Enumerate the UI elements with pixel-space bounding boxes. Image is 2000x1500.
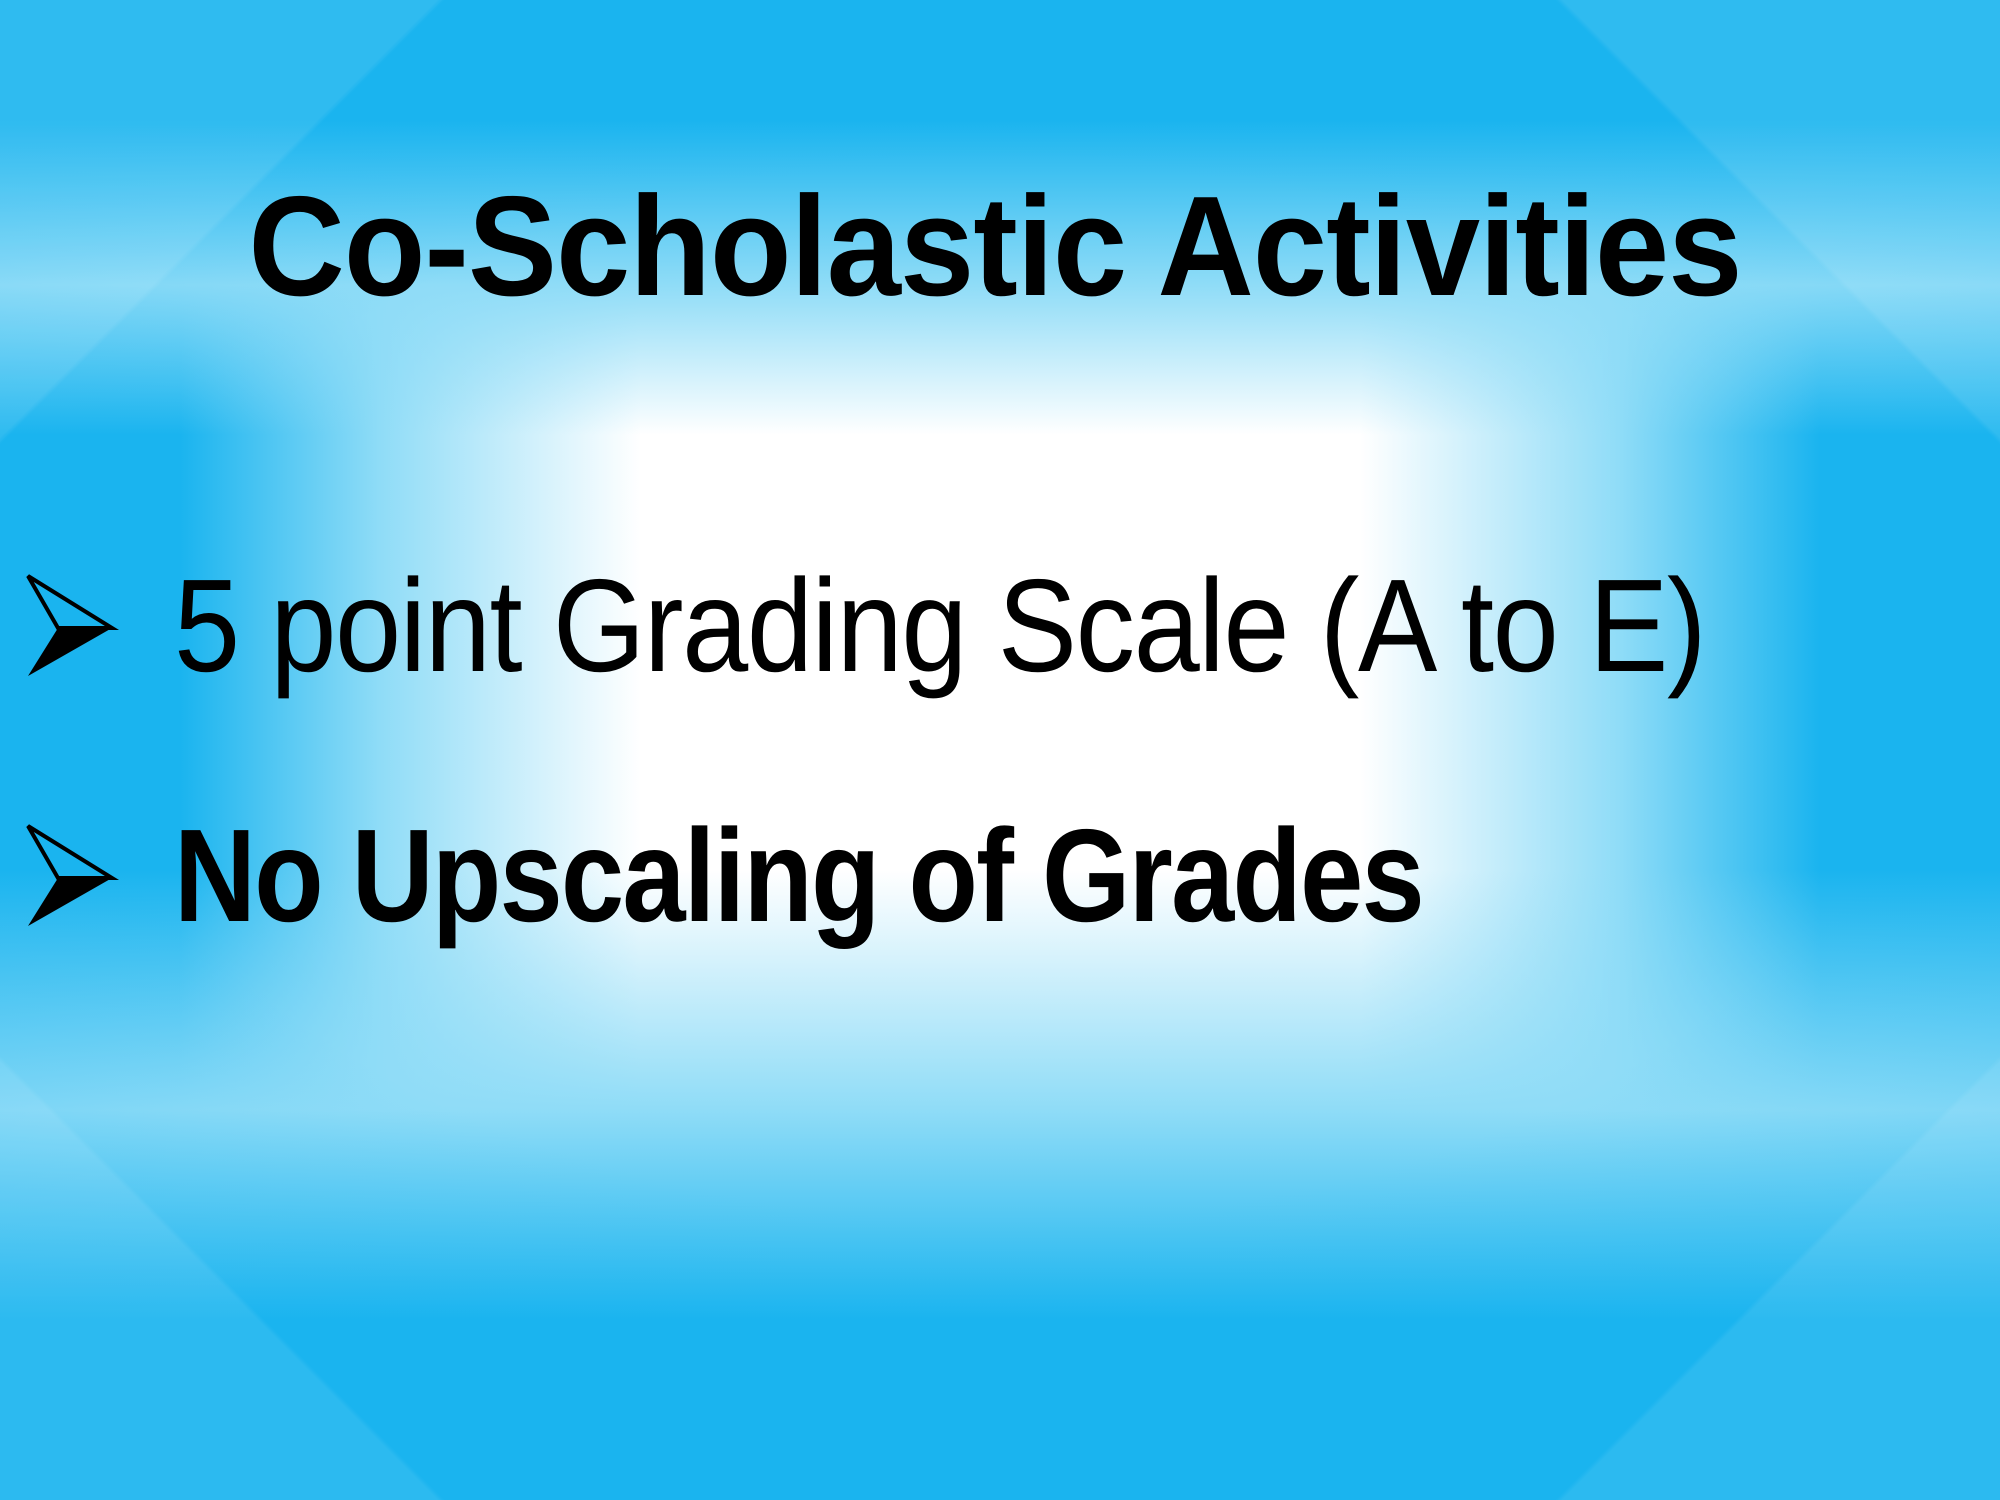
bullet-item-label: No Upscaling of Grades: [174, 810, 1423, 942]
arrowhead-bullet-icon: [24, 824, 116, 928]
arrowhead-bullet-icon: [24, 574, 116, 678]
bullet-item: 5 point Grading Scale (A to E): [0, 560, 2000, 692]
bullet-list: 5 point Grading Scale (A to E) No Upscal…: [0, 560, 2000, 1060]
bullet-item: No Upscaling of Grades: [0, 810, 2000, 942]
slide-title: Co-Scholastic Activities: [116, 176, 1874, 318]
presentation-slide: Co-Scholastic Activities 5 point Grading…: [0, 0, 2000, 1500]
slide-content: Co-Scholastic Activities 5 point Grading…: [0, 0, 2000, 1500]
bullet-item-label: 5 point Grading Scale (A to E): [174, 560, 1705, 692]
